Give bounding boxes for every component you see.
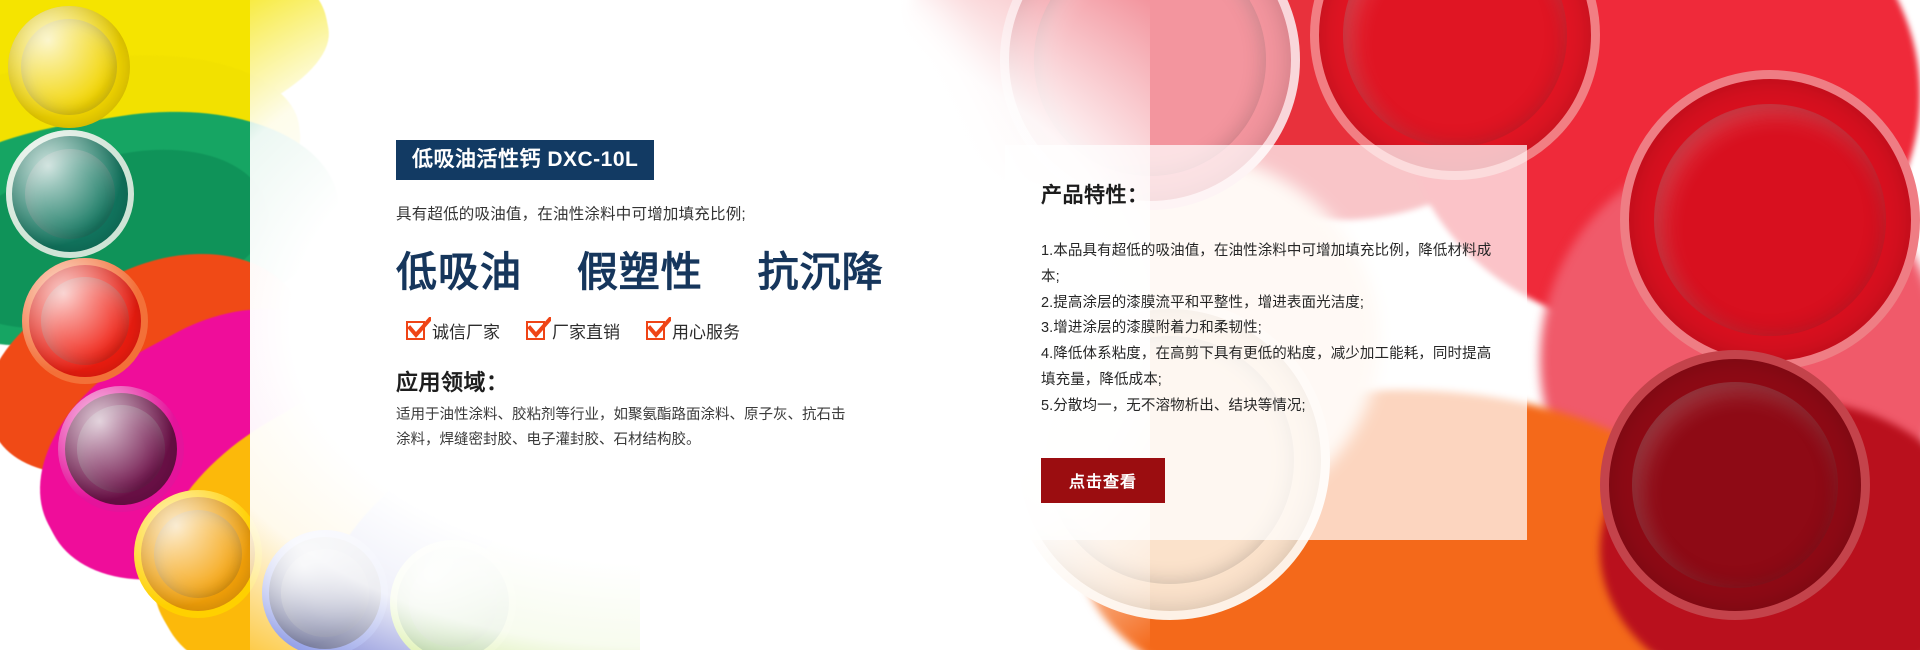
paint-can-orange	[134, 490, 262, 618]
feature-list-item: 1.本品具有超低的吸油值，在油性涂料中可增加填充比例，降低材料成本;	[1041, 239, 1493, 291]
product-features-panel: 产品特性： 1.本品具有超低的吸油值，在油性涂料中可增加填充比例，降低材料成本;…	[1005, 145, 1527, 540]
product-name-tag: 低吸油活性钙 DXC-10L	[396, 140, 654, 180]
trust-feature-item: 用心服务	[646, 318, 740, 343]
headline-part-2: 假塑性	[577, 249, 703, 295]
application-text-line-1: 适用于油性涂料、胶粘剂等行业，如聚氨酯路面涂料、原子灰、抗石击	[396, 403, 956, 428]
headline-part-1: 低吸油	[396, 249, 522, 295]
feature-list-item: 3.增进涂层的漆膜附着力和柔韧性;	[1041, 316, 1493, 342]
feature-list-item: 4.降低体系粘度，在高剪下具有更低的粘度，减少加工能耗，同时提高填充量，降低成本…	[1041, 342, 1493, 394]
paint-can-navy	[262, 530, 388, 650]
features-panel-title: 产品特性：	[1041, 179, 1493, 209]
paint-can-purple	[58, 386, 184, 512]
checkbox-checked-icon	[406, 321, 425, 340]
product-headline: 低吸油 假塑性 抗沉降	[396, 238, 956, 298]
trust-feature-label: 厂家直销	[552, 318, 620, 343]
feature-list-item: 2.提高涂层的漆膜流平和平整性，增进表面光洁度;	[1041, 291, 1493, 317]
product-copy-block: 低吸油活性钙 DXC-10L 具有超低的吸油值，在油性涂料中可增加填充比例; 低…	[396, 140, 956, 454]
paint-can-red	[22, 258, 148, 384]
features-list: 1.本品具有超低的吸油值，在油性涂料中可增加填充比例，降低材料成本; 2.提高涂…	[1041, 239, 1493, 420]
trust-feature-label: 诚信厂家	[432, 318, 500, 343]
headline-part-3: 抗沉降	[758, 249, 884, 295]
application-section-title: 应用领域：	[396, 365, 956, 397]
trust-feature-item: 诚信厂家	[406, 318, 500, 343]
trust-feature-label: 用心服务	[672, 318, 740, 343]
promo-banner: 低吸油活性钙 DXC-10L 具有超低的吸油值，在油性涂料中可增加填充比例; 低…	[0, 0, 1920, 650]
product-lead-text: 具有超低的吸油值，在油性涂料中可增加填充比例;	[396, 202, 956, 224]
paint-dish-crimson-right	[1620, 70, 1920, 370]
paint-can-teal	[6, 130, 134, 258]
trust-feature-list: 诚信厂家 厂家直销 用心服务	[406, 318, 956, 343]
trust-feature-item: 厂家直销	[526, 318, 620, 343]
application-text-line-2: 涂料，焊缝密封胶、电子灌封胶、石材结构胶。	[396, 428, 956, 453]
feature-list-item: 5.分散均一，无不溶物析出、结块等情况;	[1041, 394, 1493, 420]
checkbox-checked-icon	[646, 321, 665, 340]
checkbox-checked-icon	[526, 321, 545, 340]
paint-can-yellow	[8, 6, 130, 128]
paint-dish-darkred-bottomright	[1600, 350, 1870, 620]
view-details-button[interactable]: 点击查看	[1041, 458, 1165, 503]
